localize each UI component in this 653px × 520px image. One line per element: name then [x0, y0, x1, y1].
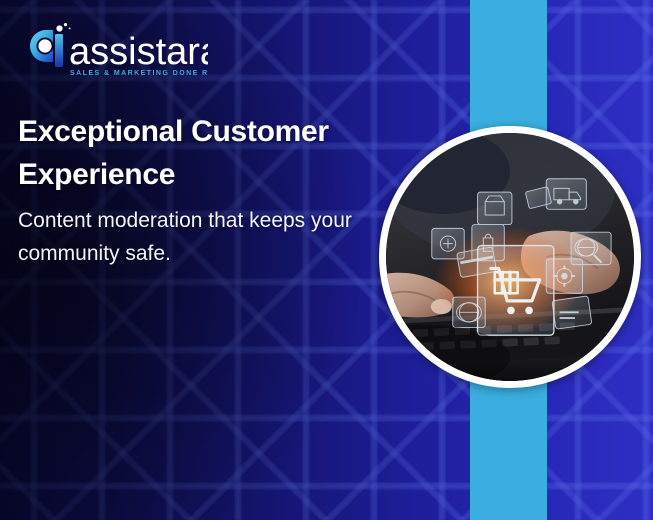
hero-image-circle — [379, 126, 641, 388]
logo-mark-i — [55, 34, 63, 67]
brand-wordmark: assistara — [69, 31, 208, 73]
hero-subheadline: Content moderation that keeps your commu… — [18, 204, 393, 270]
brand-tagline: SALES & MARKETING DONE RIGHT — [70, 70, 208, 77]
hero-banner: assistara SALES & MARKETING DONE RIGHT E… — [0, 0, 653, 520]
ecommerce-hologram-laptop-photo — [386, 133, 634, 381]
brand-logo[interactable]: assistara SALES & MARKETING DONE RIGHT — [26, 22, 208, 78]
logo-mark-a — [30, 30, 54, 62]
page-title: Exceptional Customer Experience — [18, 110, 418, 196]
